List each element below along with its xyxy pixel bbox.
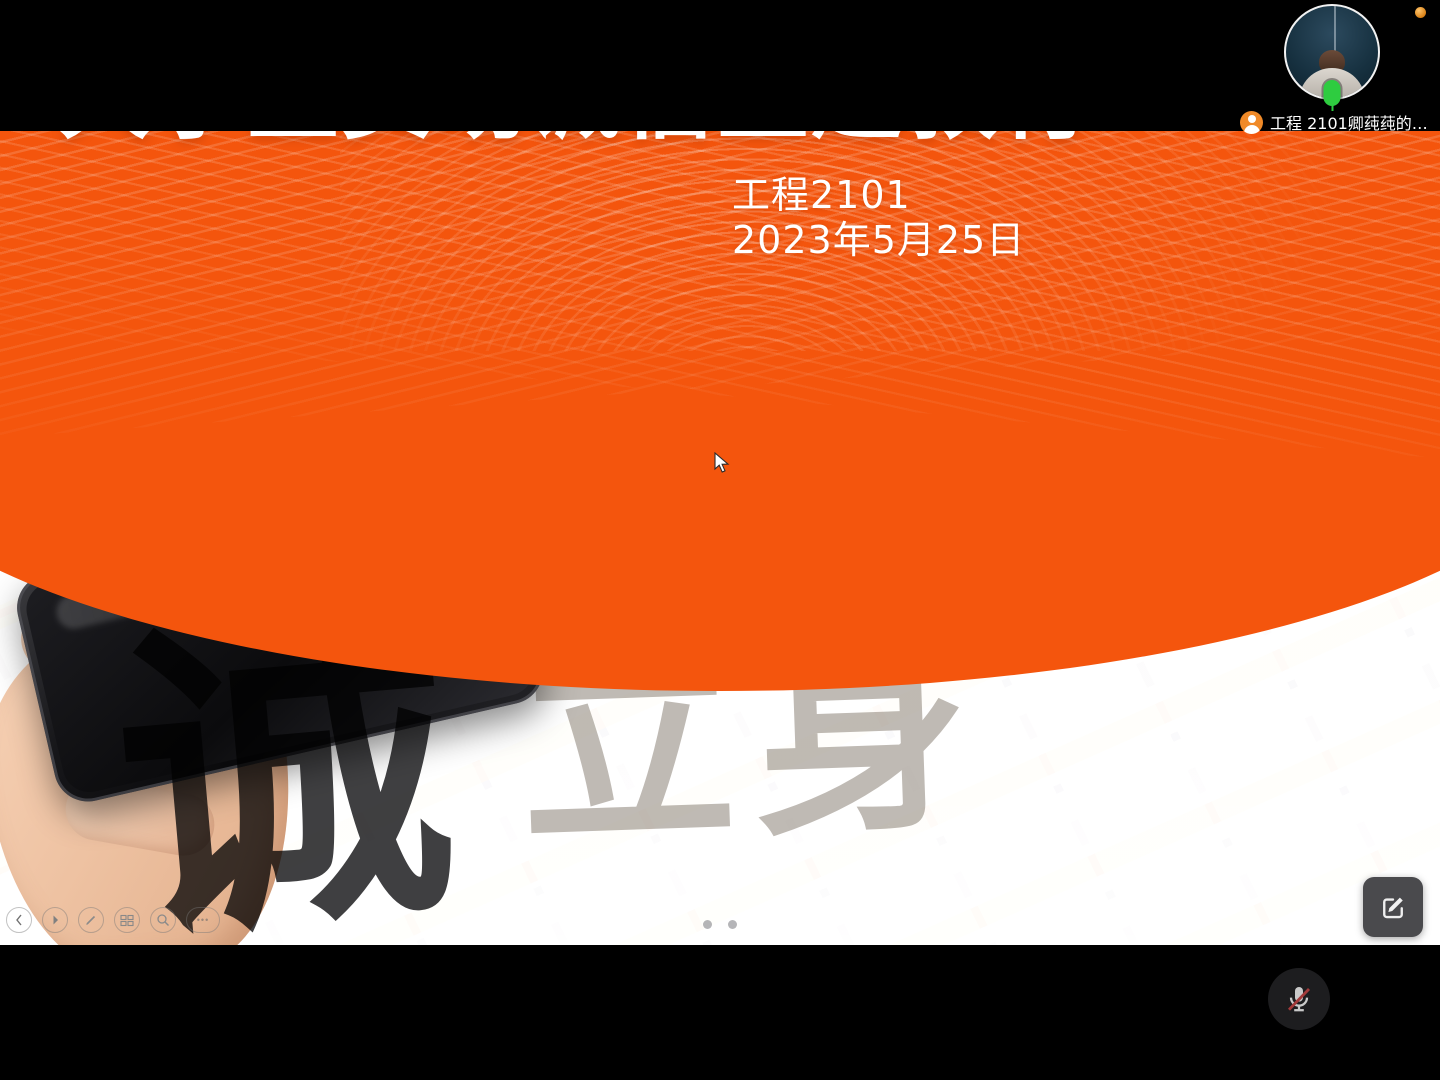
mute-button[interactable] bbox=[1268, 968, 1330, 1030]
mouse-cursor bbox=[714, 452, 732, 476]
status-indicator-dot bbox=[1415, 7, 1426, 18]
screen-root: 立身 诚 大学生资助诚信主题教育 工程2101 2023年5月25日 bbox=[0, 0, 1440, 1080]
more-options-icon[interactable]: ••• bbox=[186, 907, 220, 933]
slide-title: 大学生资助诚信主题教育 bbox=[0, 131, 1296, 148]
background-cord bbox=[1334, 6, 1336, 52]
avatar-wrapper[interactable] bbox=[1284, 4, 1380, 100]
participant-video-tile[interactable]: 工程 2101卿莼莼的… bbox=[1232, 4, 1432, 134]
slide-page-indicator[interactable] bbox=[703, 920, 737, 929]
orange-header-banner: 大学生资助诚信主题教育 工程2101 2023年5月25日 bbox=[0, 131, 1440, 691]
microphone-active-icon bbox=[1324, 80, 1341, 106]
person-avatar-icon bbox=[1240, 111, 1263, 134]
page-dot[interactable] bbox=[703, 920, 712, 929]
pen-icon[interactable] bbox=[78, 907, 104, 933]
powerpoint-presenter-controls[interactable]: ••• bbox=[6, 907, 220, 933]
participant-name-row: 工程 2101卿莼莼的… bbox=[1232, 110, 1432, 134]
subtitle-class-line: 工程2101 bbox=[732, 173, 1212, 218]
microphone-muted-icon bbox=[1283, 983, 1315, 1015]
next-slide-icon[interactable] bbox=[42, 907, 68, 933]
slide-subtitle: 工程2101 2023年5月25日 bbox=[732, 173, 1212, 263]
zoom-magnifier-icon[interactable] bbox=[150, 907, 176, 933]
shared-slide-stage[interactable]: 立身 诚 大学生资助诚信主题教育 工程2101 2023年5月25日 bbox=[0, 131, 1440, 945]
annotate-pencil-icon bbox=[1378, 892, 1408, 922]
all-slides-icon[interactable] bbox=[114, 907, 140, 933]
previous-slide-icon[interactable] bbox=[6, 907, 32, 933]
page-dot[interactable] bbox=[728, 920, 737, 929]
annotate-button[interactable] bbox=[1363, 877, 1423, 937]
subtitle-date-line: 2023年5月25日 bbox=[732, 218, 1212, 263]
participant-name: 工程 2101卿莼莼的… bbox=[1270, 110, 1428, 134]
